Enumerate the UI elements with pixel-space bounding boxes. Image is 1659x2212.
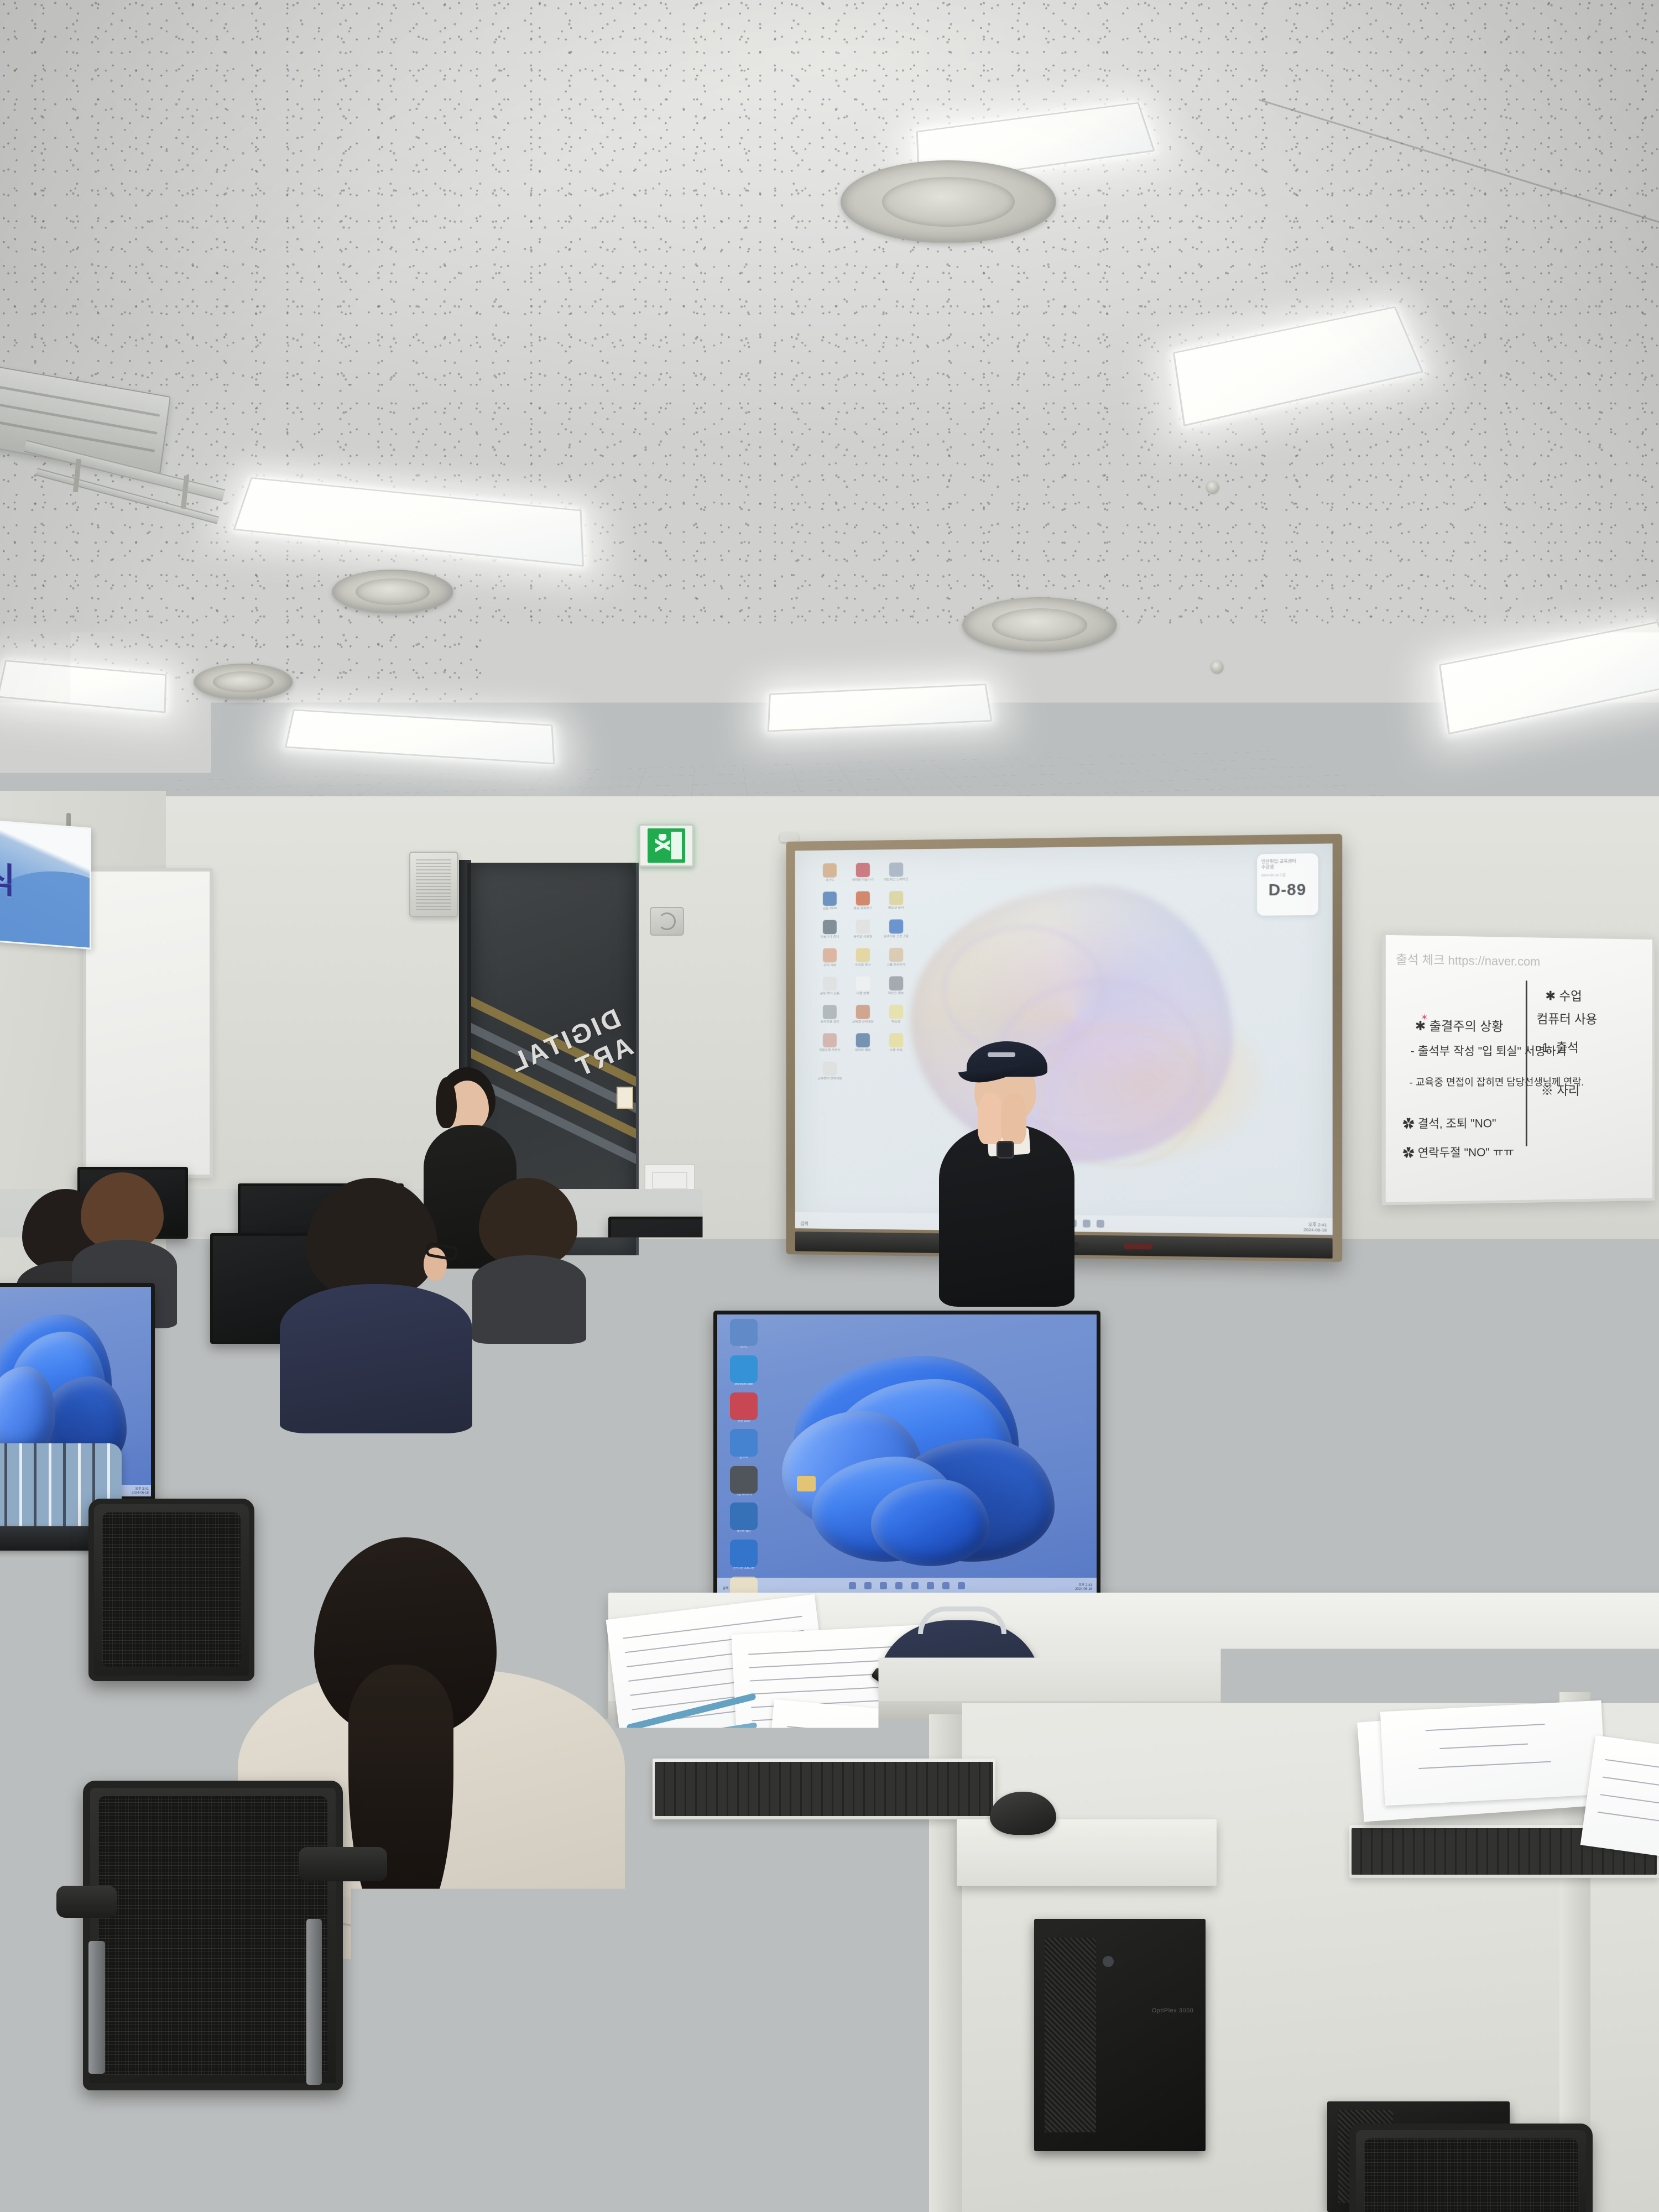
desktop-icon-glyph xyxy=(823,1005,837,1019)
taskbar-edge-icon[interactable] xyxy=(1572,1564,1577,1570)
student-hair xyxy=(479,1178,577,1266)
ceiling-downlight xyxy=(332,570,453,614)
student-hair xyxy=(1601,1178,1659,1261)
desktop-icon-label: 강의 자료 xyxy=(813,964,847,972)
right-whiteboard: 출석 체크 https://naver.com ✶ ✱ 출결주의 상황 - 출석… xyxy=(1382,932,1655,1206)
projected-desktop-icon[interactable]: 제어판 바로가기 xyxy=(846,863,879,886)
projected-desktop-icon[interactable]: 메모장 xyxy=(879,1005,912,1028)
desktop-icon-label: 알 PDF xyxy=(723,1457,764,1462)
projected-desktop-icon[interactable]: 네이버 웨일 xyxy=(846,1034,879,1056)
desktop-icon-label: 메모장 xyxy=(879,1020,912,1028)
desktop-icon[interactable]: 크롬 브라우저 xyxy=(723,1466,764,1499)
projected-desktop-icon[interactable]: 강의 자료 xyxy=(813,948,847,972)
student-body xyxy=(280,1284,472,1433)
dday-line3: 2024-06-18 기준 xyxy=(1261,872,1313,878)
desktop-icon-glyph xyxy=(889,863,903,877)
taskbar-widgets-icon[interactable] xyxy=(1548,1564,1554,1570)
chair-mesh xyxy=(98,1796,327,2075)
right-monitor-brand: DELL xyxy=(1405,1579,1659,1589)
desktop-icon-glyph xyxy=(856,977,870,991)
whiteboard-line-5: ✿ 연락두절 "NO" ㅠㅠ xyxy=(1402,1143,1514,1161)
ceiling-downlight xyxy=(962,597,1117,653)
projected-desktop-icon[interactable]: 교육센터 안내자료 xyxy=(813,1062,847,1084)
desktop-folder-icon[interactable] xyxy=(797,1476,816,1491)
desktop-icon-glyph xyxy=(856,863,870,878)
whiteboard-right-line-3: 1. 출석 xyxy=(1542,1037,1578,1056)
student-hair xyxy=(81,1172,164,1250)
desktop-icon-glyph xyxy=(889,920,903,934)
wall-speaker-icon xyxy=(650,907,684,936)
desktop-icon-glyph xyxy=(823,977,837,991)
desktop-icon-glyph xyxy=(823,1034,837,1048)
desktop-icon[interactable]: 내 PC xyxy=(723,1319,764,1352)
desktop-icon-label: 원격지원 프로그램 xyxy=(723,1567,764,1573)
desktop-icon-glyph xyxy=(856,1034,870,1048)
desktop-icon-glyph xyxy=(730,1429,758,1457)
drink-tumbler[interactable] xyxy=(1510,1288,1550,1349)
whiteboard-right-line-2: 컴퓨터 사용 xyxy=(1537,1008,1597,1027)
taskbar-start-icon[interactable] xyxy=(849,1582,856,1589)
desktop-icon-label: 문서함 자료실 xyxy=(846,935,879,943)
chair-backrest xyxy=(83,1781,343,2090)
classroom-photo: 식 DIGITAL ART 내 PC제어판 바로가기네트워크 드라이브한글 20… xyxy=(0,0,1659,2212)
projected-desktop-icon[interactable]: 공유 폴더 모음 xyxy=(813,977,847,1000)
desktop-icon-glyph xyxy=(730,1503,758,1530)
projected-desktop-icon[interactable]: 문서파일 정리 xyxy=(813,1005,847,1027)
desktop-icon-label: 크롬 브라우저 xyxy=(723,1494,764,1499)
taskbar-chrome-icon[interactable] xyxy=(927,1582,934,1589)
person-seated-glasses xyxy=(288,1178,465,1421)
bag-handle xyxy=(918,1606,1006,1634)
desktop-folder-icon[interactable] xyxy=(1414,1445,1428,1457)
chair-armrest[interactable] xyxy=(56,1886,117,1918)
smoke-detector-icon xyxy=(780,832,799,842)
taskbar-search-icon[interactable] xyxy=(864,1582,872,1589)
document-stack-top-sheet[interactable] xyxy=(1380,1700,1606,1806)
desktop-icon-label: 크롬 브라우저 xyxy=(879,963,912,971)
right-monitor-screen[interactable] xyxy=(1408,1331,1659,1574)
desktop-icon-label: 한글 2020 xyxy=(813,907,847,915)
desktop-icon-glyph xyxy=(730,1466,758,1494)
student-hair xyxy=(306,1178,438,1298)
desktop-icon-glyph xyxy=(889,1005,903,1019)
person-seated-right-edge xyxy=(1598,1178,1659,1322)
office-chair[interactable] xyxy=(83,1781,343,2090)
desktop-icon-glyph xyxy=(889,948,903,962)
desktop-icon-label: 내 PC xyxy=(813,879,847,886)
projected-desktop-icon[interactable]: 바로가기 폴더 xyxy=(813,920,847,943)
projected-desktop-icon[interactable]: 이지스 에듀 xyxy=(879,977,912,1000)
desktop-pc-tower: OptiPlex 3050 xyxy=(1034,1919,1206,2151)
desktop-icon-label: 교육생 관리대장 xyxy=(846,1020,879,1028)
chair-armrest[interactable] xyxy=(299,1847,387,1881)
desktop-icon-glyph xyxy=(856,920,870,934)
projected-desktop-icon[interactable]: 나눔 글꼴 xyxy=(846,977,879,1000)
taskbar-widgets-icon[interactable] xyxy=(880,1582,887,1589)
projected-desktop-icon[interactable]: 출결 서식 xyxy=(879,1034,912,1057)
student-body xyxy=(472,1255,586,1344)
projected-desktop-icon[interactable]: 교육생 관리대장 xyxy=(846,1005,879,1028)
desktop-icon-glyph xyxy=(730,1319,758,1347)
whiteboard-line-1: ✱ 출결주의 상황 xyxy=(1415,1015,1504,1035)
whiteboard-faint-line: 출석 체크 https://naver.com xyxy=(1396,950,1540,970)
right-monitor[interactable]: DELL xyxy=(1405,1327,1659,1593)
desktop-icon-label: 네트워크 드라이브 xyxy=(879,878,912,886)
taskbar-explorer-icon[interactable] xyxy=(1560,1564,1566,1570)
projected-desktop-icon[interactable]: 크롬 브라우저 xyxy=(879,948,912,971)
desktop-icon-glyph xyxy=(856,1005,870,1019)
presenter-cap-logo xyxy=(988,1052,1015,1057)
wall-certificate xyxy=(617,1087,633,1109)
chair-mesh xyxy=(1364,2138,1578,2212)
desktop-icon-label: 나눔 글꼴 xyxy=(846,992,879,1000)
wall-banner: 식 xyxy=(0,820,91,950)
presenter-hand-left xyxy=(978,1093,1003,1144)
tumbler-lid xyxy=(1506,1281,1553,1293)
desktop-icon-label: Microsoft Edge xyxy=(723,1383,764,1389)
center-monitor[interactable]: 내 PCMicrosoft Edge한글 2020알 PDF크롬 브라우저네이버… xyxy=(713,1311,1100,1612)
chair-support-post xyxy=(306,1919,322,2085)
sprinkler-head xyxy=(1211,661,1223,673)
left-whiteboard xyxy=(83,868,213,1178)
ceiling-downlight xyxy=(841,160,1056,243)
taskbar-explorer-icon[interactable] xyxy=(895,1582,902,1589)
desktop-icon-label: 내 PC xyxy=(723,1346,764,1352)
whiteboard-divider xyxy=(1526,980,1527,1146)
keyboard-drawer-right[interactable] xyxy=(957,1819,1217,1886)
taskbar-clock[interactable]: 오후 2:41 2024-06-18 xyxy=(1075,1584,1092,1592)
windows-taskbar[interactable] xyxy=(717,1578,1097,1593)
projected-desktop-icon[interactable]: 메모장 문서 xyxy=(879,891,912,914)
taskbar-search-label: 검색 xyxy=(723,1585,729,1590)
desktop-icon-glyph xyxy=(730,1355,758,1383)
chair-support-post xyxy=(88,1941,105,2074)
desktop-icon-glyph xyxy=(823,1062,837,1076)
desktop-icon-label: 메모장 문서 xyxy=(879,906,912,914)
taskbar-start-icon[interactable] xyxy=(1525,1564,1531,1570)
projected-desktop-icon[interactable]: 알집 압축풀기 xyxy=(846,891,879,915)
projected-desktop-icon[interactable]: 문서함 자료실 xyxy=(846,920,879,943)
person-seated-midright xyxy=(1178,1233,1399,1565)
desktop-icon-label: 한글 2020 xyxy=(723,1420,764,1426)
desktop-icon-label: 공유 폴더 모음 xyxy=(813,992,847,1000)
desktop-icon-label: 원격지원 프로그램 xyxy=(879,935,912,942)
dday-countdown: D-89 xyxy=(1261,881,1313,900)
desktop-icon-label: 이지스 에듀 xyxy=(879,992,912,999)
keyboard[interactable] xyxy=(2,2116,230,2170)
projected-desktop-icon[interactable]: 한글 2020 xyxy=(813,891,847,915)
desktop-icon-label: 알집 압축풀기 xyxy=(846,906,879,914)
desktop-icon-glyph xyxy=(730,1392,758,1420)
emergency-exit-icon xyxy=(639,824,694,867)
taskbar-hangul-icon[interactable] xyxy=(942,1582,950,1589)
whiteboard-right-line-1: ✱ 수업 xyxy=(1545,985,1582,1004)
projected-desktop-icon[interactable]: 네트워크 드라이브 xyxy=(879,863,912,886)
desktop-icon-label: 네이버 웨일 xyxy=(723,1530,764,1536)
person-presenter xyxy=(935,1031,1078,1302)
student-body xyxy=(1178,1454,1399,1582)
desktop-icon-label: 수강생 폴더 xyxy=(846,963,879,971)
desktop-icon-glyph xyxy=(823,863,837,878)
ceiling xyxy=(0,0,1659,863)
wall-speaker-box xyxy=(409,852,458,917)
office-chair-bottom-right[interactable] xyxy=(1349,2124,1593,2212)
desktop-icon-glyph xyxy=(856,948,870,963)
office-chair-back[interactable] xyxy=(88,1499,254,1681)
windows-desktop[interactable] xyxy=(1408,1331,1659,1574)
dday-line2: 수강생 xyxy=(1261,864,1313,871)
desktop-icon-label: 문서파일 정리 xyxy=(813,1020,847,1028)
projected-desktop-icon[interactable]: 원격지원 프로그램 xyxy=(879,920,912,943)
foreground-student-ponytail xyxy=(348,1665,453,1930)
ceiling-speckle-texture xyxy=(0,0,1659,863)
banner-text: 식 xyxy=(0,851,14,904)
win11-bloom-wallpaper xyxy=(770,1342,1066,1571)
desktop-icon[interactable]: 원격지원 프로그램 xyxy=(723,1540,764,1573)
projected-desktop-icon[interactable]: 취업포털 사이트 xyxy=(813,1034,847,1056)
chair-backrest xyxy=(88,1499,254,1681)
desktop-icon-glyph xyxy=(823,920,837,935)
desktop-icon-label: 취업포털 사이트 xyxy=(813,1048,847,1056)
ceiling-downlight xyxy=(194,664,293,700)
projected-desktop-icon[interactable]: 수강생 폴더 xyxy=(846,948,879,972)
pc-vent-grille xyxy=(1045,1938,1096,2133)
desktop-icon-label: 교육센터 안내자료 xyxy=(813,1077,847,1084)
desktop-icon-glyph xyxy=(889,891,903,905)
dday-widget: 인산취업·교육센터 수강생 2024-06-18 기준 D-89 xyxy=(1257,853,1318,916)
projected-desktop-icons: 내 PC제어판 바로가기네트워크 드라이브한글 2020알집 압축풀기메모장 문… xyxy=(813,863,913,1091)
desktop-icon-glyph xyxy=(730,1540,758,1567)
taskbar-search-icon[interactable] xyxy=(1537,1564,1542,1570)
windows-desktop[interactable]: 내 PCMicrosoft Edge한글 2020알 PDF크롬 브라우저네이버… xyxy=(717,1314,1097,1593)
person-seated-back-3 xyxy=(476,1178,581,1316)
windows-taskbar[interactable] xyxy=(1408,1561,1659,1574)
desktop-icon[interactable]: 알 PDF xyxy=(723,1429,764,1462)
center-monitor-screen[interactable]: 내 PCMicrosoft Edge한글 2020알 PDF크롬 브라우저네이버… xyxy=(717,1314,1097,1593)
backpack-bag[interactable] xyxy=(879,1620,1040,1720)
pc-model-label: OptiPlex 3050 xyxy=(1152,2007,1194,2014)
sprinkler-head xyxy=(1207,481,1219,493)
desktop-icon-glyph xyxy=(823,892,837,906)
desktop-icon-glyph xyxy=(889,977,903,991)
desktop-icon[interactable]: Microsoft Edge xyxy=(723,1355,764,1389)
win11-bloom-wallpaper xyxy=(1448,1355,1659,1554)
desktop-icon-label: 제어판 바로가기 xyxy=(846,878,879,886)
desktop-icon-label: 네이버 웨일 xyxy=(846,1048,879,1056)
taskbar-store-icon[interactable] xyxy=(958,1582,965,1589)
whiteboard-line-4: ✿ 결석, 조퇴 "NO" xyxy=(1402,1114,1496,1131)
desktop-icon[interactable]: 네이버 웨일 xyxy=(723,1503,764,1536)
student-hair xyxy=(723,1167,842,1275)
chair-backrest xyxy=(1349,2124,1593,2212)
pc-power-button[interactable] xyxy=(1103,1956,1114,1967)
chair-mesh xyxy=(102,1512,241,1667)
person-seated-back-2 xyxy=(77,1172,171,1300)
desktop-icon-glyph xyxy=(823,948,837,963)
desktop-icon-glyph xyxy=(856,891,870,906)
desktop-icon-label: 바로가기 폴더 xyxy=(813,935,847,943)
desktop-icon-glyph xyxy=(889,1034,903,1048)
desktop-icon-column[interactable]: 내 PCMicrosoft Edge한글 2020알 PDF크롬 브라우저네이버… xyxy=(723,1319,764,1593)
presenter-smartwatch xyxy=(997,1141,1014,1159)
projected-desktop-icon[interactable]: 내 PC xyxy=(813,863,847,886)
desktop-icon-label: 출결 서식 xyxy=(879,1048,912,1056)
desktop-icon[interactable]: 한글 2020 xyxy=(723,1392,764,1426)
keyboard-tray-front-left[interactable] xyxy=(0,2112,232,2173)
whiteboard-right-line-4: ※ 자리 xyxy=(1541,1080,1579,1099)
taskbar-clock[interactable]: 오후 2:41 2024-06-18 xyxy=(132,1488,149,1495)
taskbar-edge-icon[interactable] xyxy=(911,1582,919,1589)
presenter-hand-right xyxy=(1001,1093,1026,1144)
